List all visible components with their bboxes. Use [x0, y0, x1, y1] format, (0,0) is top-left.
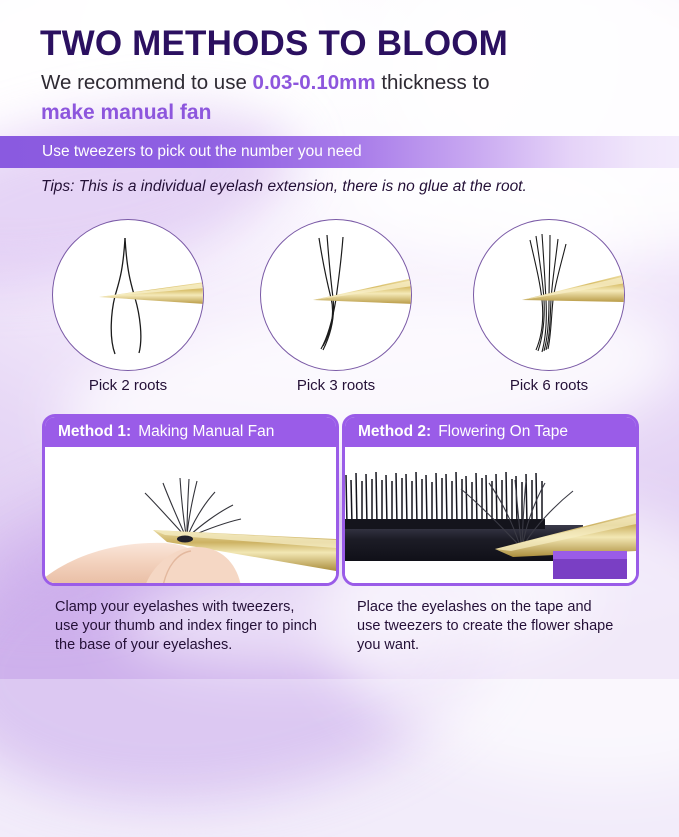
tweezers-picking-lashes-icon [260, 219, 412, 371]
method-card-1-photo [45, 447, 336, 586]
method-card-1-title: Making Manual Fan [138, 423, 274, 441]
thickness-value: 0.03-0.10mm [253, 71, 376, 94]
pick-roots-row: Pick 2 roots [0, 219, 679, 379]
instruction-banner: Use tweezers to pick out the number you … [0, 136, 679, 168]
pick-roots-label: Pick 2 roots [52, 377, 204, 394]
recommendation-line-2: make manual fan [41, 101, 211, 125]
method-card-2: Method 2: Flowering On Tape [342, 414, 639, 586]
pick-roots-label: Pick 3 roots [260, 377, 412, 394]
method-card-2-header: Method 2: Flowering On Tape [345, 417, 636, 447]
method-2-caption: Place the eyelashes on the tape anduse t… [357, 598, 657, 655]
method-card-2-title: Flowering On Tape [438, 423, 568, 441]
pick-roots-label: Pick 6 roots [473, 377, 625, 394]
method-card-2-number: Method 2: [358, 423, 431, 441]
method-card-1-header: Method 1: Making Manual Fan [45, 417, 336, 447]
method-card-2-photo [345, 447, 636, 586]
recommendation-suffix: thickness to [376, 71, 490, 94]
tips-note: Tips: This is a individual eyelash exten… [41, 178, 527, 196]
pick-roots-item: Pick 3 roots [260, 219, 412, 371]
tweezers-picking-lashes-icon [52, 219, 204, 371]
method-1-caption: Clamp your eyelashes with tweezers,use y… [55, 598, 355, 655]
instruction-banner-label: Use tweezers to pick out the number you … [42, 143, 362, 161]
page-title: TWO METHODS TO BLOOM [40, 24, 508, 64]
method-card-1: Method 1: Making Manual Fan [42, 414, 339, 586]
recommendation-line-1: We recommend to use 0.03-0.10mm thicknes… [41, 71, 490, 95]
recommendation-prefix: We recommend to use [41, 71, 253, 94]
method-card-1-number: Method 1: [58, 423, 131, 441]
tweezers-picking-lashes-icon [473, 219, 625, 371]
infographic-page: TWO METHODS TO BLOOM We recommend to use… [0, 0, 679, 679]
pick-roots-item: Pick 6 roots [473, 219, 625, 371]
pick-roots-item: Pick 2 roots [52, 219, 204, 371]
